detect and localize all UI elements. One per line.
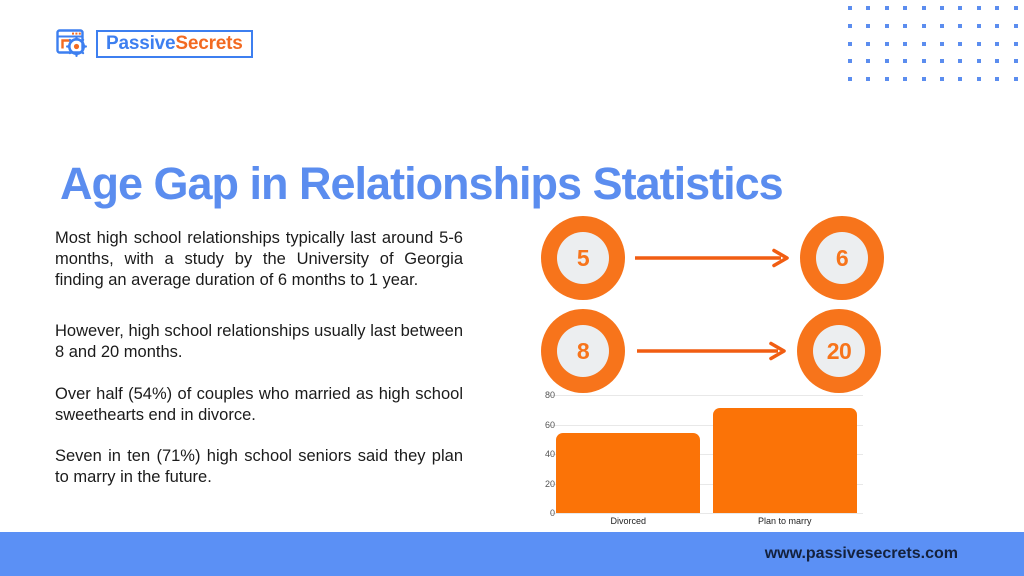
grid-dot [958, 24, 962, 28]
y-axis-tick-label: 20 [529, 479, 555, 489]
grid-dot [903, 6, 907, 10]
grid-dot [866, 24, 870, 28]
wordmark-secrets: Secrets [175, 33, 242, 54]
badge-inner: 5 [557, 232, 609, 284]
grid-dot [1014, 59, 1018, 63]
grid-dot [1014, 6, 1018, 10]
footer-bar: www.passivesecrets.com [0, 532, 1024, 576]
badge-inner: 6 [816, 232, 868, 284]
grid-dot [1014, 42, 1018, 46]
badge-value: 6 [836, 245, 848, 272]
badge-to-6: 6 [800, 216, 884, 300]
grid-dot [922, 77, 926, 81]
y-axis-tick-label: 0 [529, 508, 555, 518]
brand-logo[interactable]: PassiveSecrets [56, 28, 253, 60]
grid-dot [903, 59, 907, 63]
grid-dot [848, 42, 852, 46]
grid-dot [940, 42, 944, 46]
grid-dot [866, 77, 870, 81]
badge-row-relationship-length: 8 20 [541, 309, 881, 393]
arrow-right-icon [635, 248, 790, 268]
grid-dot [922, 59, 926, 63]
grid-dot [885, 59, 889, 63]
bar-chart: 020406080DivorcedPlan to marry [528, 386, 873, 526]
grid-dot [995, 24, 999, 28]
y-axis-tick-label: 40 [529, 449, 555, 459]
badge-inner: 20 [813, 325, 865, 377]
badge-value: 5 [577, 245, 589, 272]
grid-dot [848, 77, 852, 81]
grid-dot [885, 77, 889, 81]
grid-dot [977, 59, 981, 63]
chart-gridline [550, 395, 863, 396]
grid-dot [977, 24, 981, 28]
grid-dot [940, 6, 944, 10]
grid-dot [885, 6, 889, 10]
grid-dot [958, 59, 962, 63]
grid-dot [903, 24, 907, 28]
grid-dot [866, 42, 870, 46]
grid-dot [958, 42, 962, 46]
grid-dot [866, 6, 870, 10]
infographic-canvas: PassiveSecrets Age Gap in Relationships … [0, 0, 1024, 576]
grid-dot [922, 24, 926, 28]
grid-dot [995, 6, 999, 10]
grid-dot [940, 59, 944, 63]
grid-dot [940, 24, 944, 28]
grid-dot [903, 77, 907, 81]
paragraph-2: However, high school relationships usual… [55, 321, 463, 363]
page-title: Age Gap in Relationships Statistics [60, 158, 783, 210]
y-axis-tick-label: 60 [529, 420, 555, 430]
footer-url[interactable]: www.passivesecrets.com [765, 545, 958, 563]
chart-bar [556, 433, 700, 513]
x-axis-tick-label: Plan to marry [713, 516, 857, 526]
brand-wordmark: PassiveSecrets [96, 30, 253, 58]
wordmark-passive: Passive [106, 33, 175, 54]
badge-value: 20 [827, 338, 852, 365]
grid-dot [848, 59, 852, 63]
badge-from-8: 8 [541, 309, 625, 393]
grid-dot [995, 77, 999, 81]
grid-dot [866, 59, 870, 63]
grid-dot [977, 42, 981, 46]
grid-dot [977, 77, 981, 81]
chart-bar [713, 408, 857, 513]
grid-dot [958, 6, 962, 10]
paragraph-3: Over half (54%) of couples who married a… [55, 384, 463, 426]
badge-row-duration-months: 5 6 [541, 216, 884, 300]
grid-dot [848, 24, 852, 28]
badge-from-5: 5 [541, 216, 625, 300]
grid-dot [848, 6, 852, 10]
grid-dot [1014, 77, 1018, 81]
body-copy: Most high school relationships typically… [55, 228, 463, 488]
arrow-right-icon [637, 341, 787, 361]
grid-dot [995, 42, 999, 46]
y-axis-tick-label: 80 [529, 390, 555, 400]
grid-dot [940, 77, 944, 81]
grid-dot [922, 42, 926, 46]
grid-dot [903, 42, 907, 46]
badge-to-20: 20 [797, 309, 881, 393]
badge-inner: 8 [557, 325, 609, 377]
paragraph-4: Seven in ten (71%) high school seniors s… [55, 446, 463, 488]
grid-dot [885, 24, 889, 28]
grid-dot [958, 77, 962, 81]
paragraph-1: Most high school relationships typically… [55, 228, 463, 291]
grid-dot [922, 6, 926, 10]
badge-value: 8 [577, 338, 589, 365]
chart-gridline [550, 513, 863, 514]
dot-grid-decoration [848, 6, 1024, 80]
grid-dot [1014, 24, 1018, 28]
grid-dot [885, 42, 889, 46]
x-axis-tick-label: Divorced [556, 516, 700, 526]
grid-dot [995, 59, 999, 63]
browser-window-gear-icon [56, 28, 90, 60]
grid-dot [977, 6, 981, 10]
